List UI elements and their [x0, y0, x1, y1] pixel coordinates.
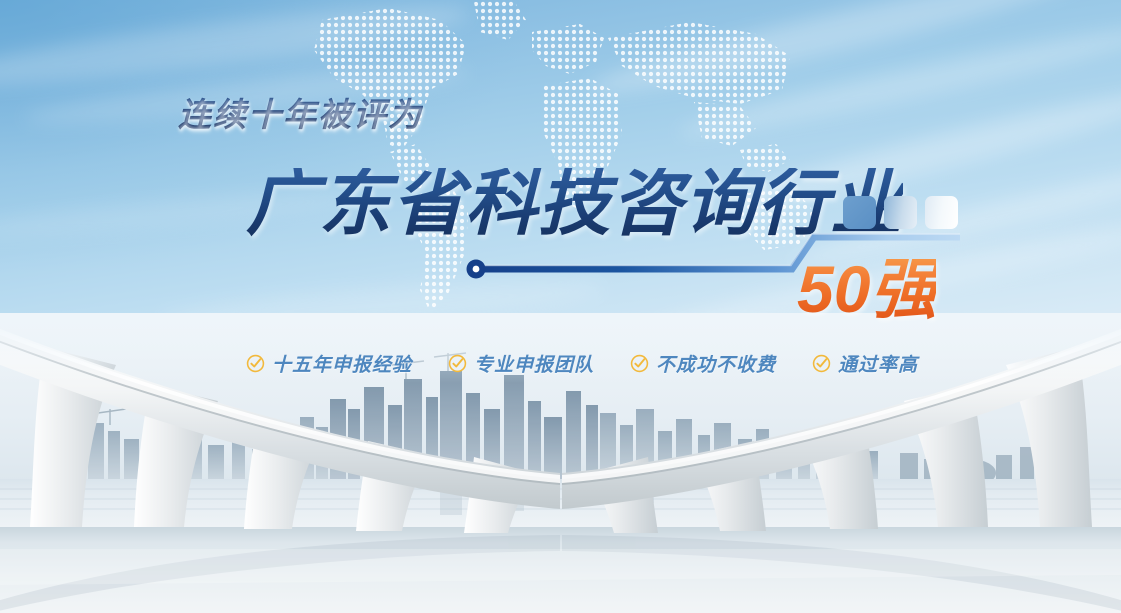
eyebrow-text: 连续十年被评为 — [178, 88, 423, 136]
banner-content: 连续十年被评为 广东省科技咨询行业 — [0, 0, 1121, 613]
check-circle-icon — [630, 354, 649, 373]
check-circle-icon — [448, 354, 467, 373]
check-circle-icon — [246, 354, 265, 373]
feature-list: 十五年申报经验 专业申报团队 不成功不收费 — [246, 350, 918, 377]
feature-label: 通过率高 — [838, 350, 918, 377]
feature-item: 不成功不收费 — [630, 350, 776, 377]
feature-item: 十五年申报经验 — [246, 350, 412, 377]
check-circle-icon — [812, 354, 831, 373]
feature-item: 专业申报团队 — [448, 350, 594, 377]
feature-label: 不成功不收费 — [656, 350, 776, 377]
feature-label: 专业申报团队 — [474, 350, 594, 377]
rank-badge-text: 50强 — [797, 256, 936, 322]
feature-label: 十五年申报经验 — [272, 350, 412, 377]
feature-item: 通过率高 — [812, 350, 918, 377]
promotional-banner: 连续十年被评为 广东省科技咨询行业 — [0, 0, 1121, 613]
